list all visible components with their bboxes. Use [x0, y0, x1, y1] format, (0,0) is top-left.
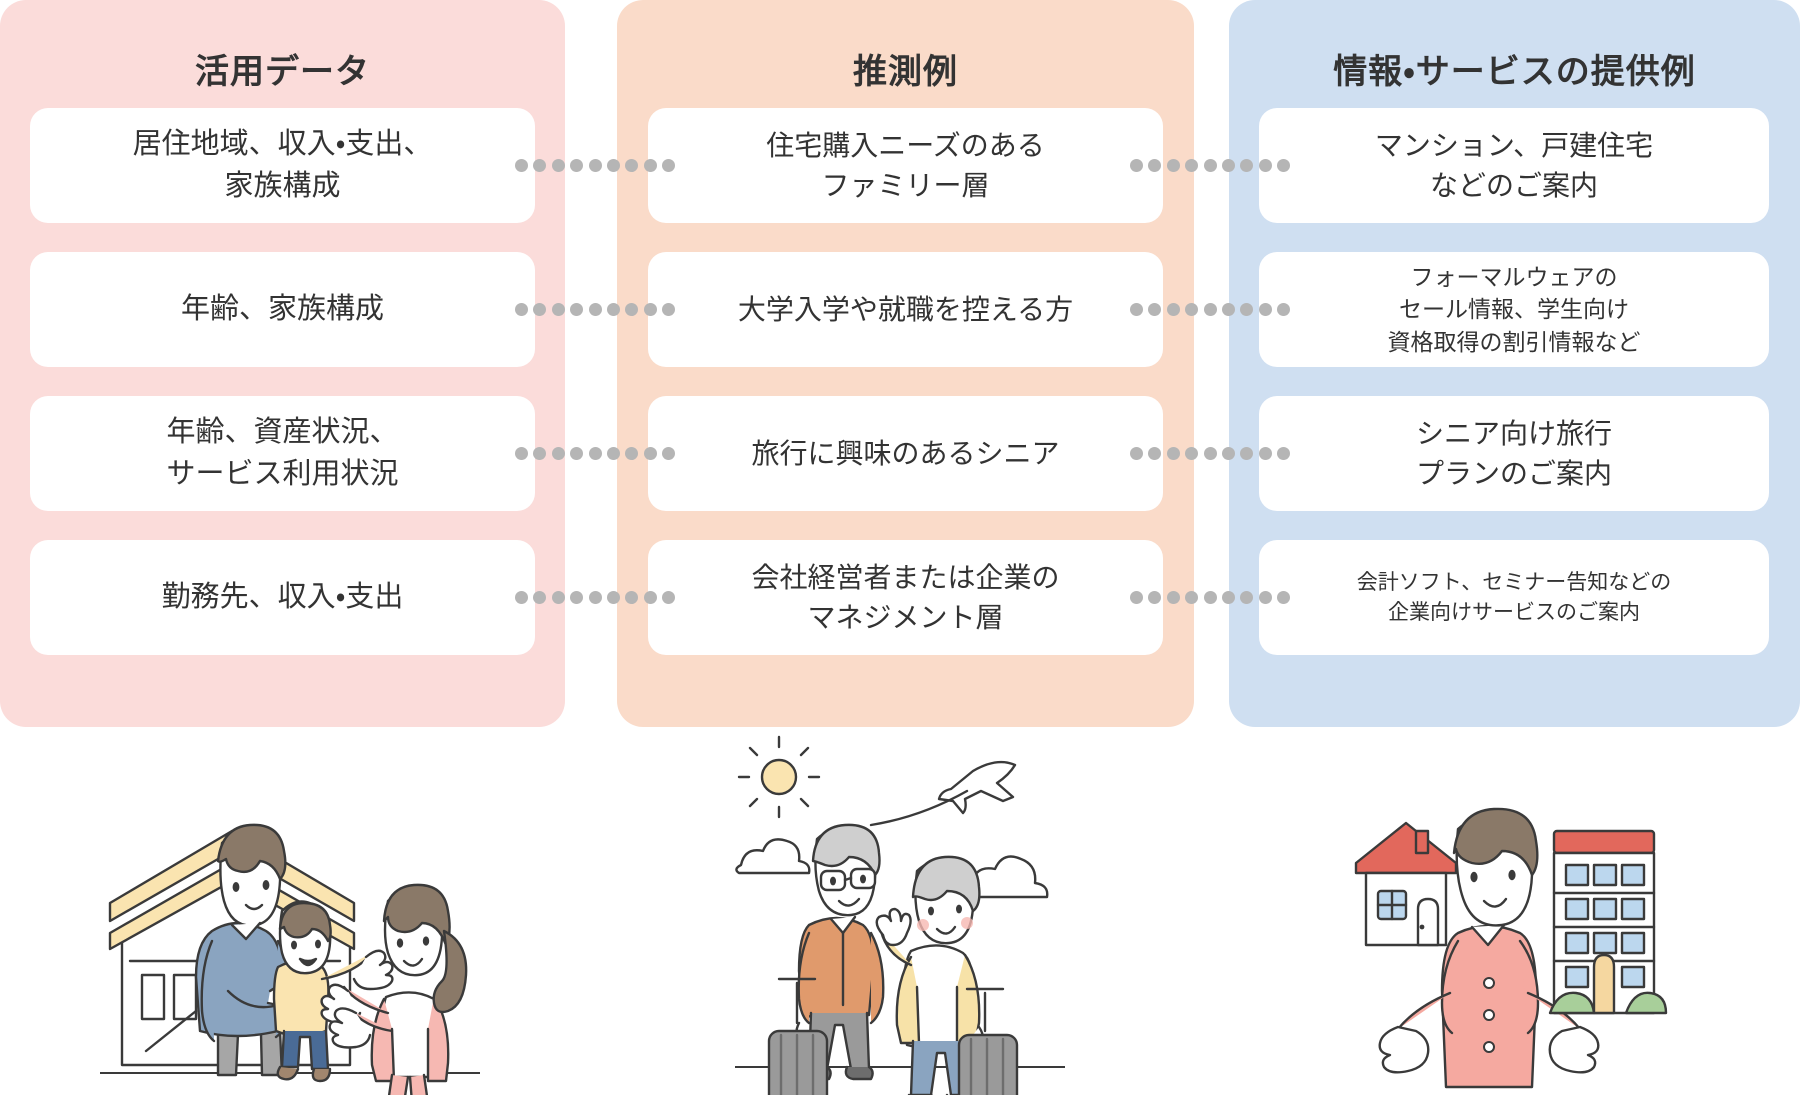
connector-dot — [1259, 159, 1272, 172]
connector-dot — [1167, 303, 1180, 316]
connector-dot — [570, 447, 583, 460]
connector-dot — [1148, 159, 1161, 172]
connector-dot — [570, 303, 583, 316]
card-infer-3-label: 旅行に興味のあるシニア — [751, 434, 1059, 474]
connector-dot — [1277, 159, 1290, 172]
connector-dot — [589, 303, 602, 316]
illustration-family-with-house — [100, 735, 480, 1095]
card-offer-4[interactable]: 会計ソフト、セミナー告知などの 企業向けサービスのご案内 — [1259, 540, 1769, 655]
card-infer-1-label: 住宅購入ニーズのある ファミリー層 — [766, 126, 1045, 206]
card-data-4[interactable]: 勤務先、収入・支出 — [30, 540, 535, 655]
card-infer-4[interactable]: 会社経営者または企業の マネジメント層 — [648, 540, 1163, 655]
connector-dot — [607, 591, 620, 604]
connector-dot — [552, 303, 565, 316]
connector-dot — [1222, 591, 1235, 604]
card-data-1[interactable]: 居住地域、収入・支出、 家族構成 — [30, 108, 535, 223]
connector-dots-infer-offer-3 — [1130, 446, 1290, 460]
connector-dot — [1240, 591, 1253, 604]
connector-dot — [589, 591, 602, 604]
column-title-infer: 推測例 — [617, 44, 1194, 93]
connector-dot — [625, 159, 638, 172]
connector-dot — [1222, 159, 1235, 172]
card-data-3[interactable]: 年齢、資産状況、 サービス利用状況 — [30, 396, 535, 511]
card-offer-4-label: 会計ソフト、セミナー告知などの 企業向けサービスのご案内 — [1357, 568, 1672, 628]
connector-dot — [1240, 447, 1253, 460]
connector-dot — [533, 159, 546, 172]
card-data-4-label: 勤務先、収入・支出 — [162, 577, 404, 618]
card-offer-1-label: マンション、戸建住宅 などのご案内 — [1375, 126, 1653, 206]
connector-dot — [533, 303, 546, 316]
connector-dot — [589, 447, 602, 460]
connector-dot — [644, 447, 657, 460]
connector-dot — [1130, 159, 1143, 172]
connector-dot — [644, 303, 657, 316]
connector-dot — [607, 303, 620, 316]
connector-dot — [1167, 447, 1180, 460]
card-offer-2-label: フォーマルウェアの セール情報、学生向け 資格取得の割引情報など — [1388, 261, 1641, 359]
connector-dot — [662, 159, 675, 172]
connector-dot — [1277, 303, 1290, 316]
connector-dot — [1204, 303, 1217, 316]
connector-dot — [1222, 303, 1235, 316]
connector-dot — [625, 447, 638, 460]
card-infer-3[interactable]: 旅行に興味のあるシニア — [648, 396, 1163, 511]
connector-dot — [1204, 591, 1217, 604]
connector-dot — [1222, 447, 1235, 460]
card-infer-4-label: 会社経営者または企業の マネジメント層 — [751, 558, 1059, 638]
connector-dots-infer-offer-4 — [1130, 590, 1290, 604]
connector-dot — [570, 591, 583, 604]
illustration-senior-couple-travel — [735, 735, 1065, 1095]
connector-dot — [1148, 447, 1161, 460]
connector-dots-infer-offer-1 — [1130, 158, 1290, 172]
connector-dot — [1130, 447, 1143, 460]
connector-dot — [1185, 303, 1198, 316]
card-offer-2[interactable]: フォーマルウェアの セール情報、学生向け 資格取得の割引情報など — [1259, 252, 1769, 367]
column-title-offer: 情報・サービスの提供例 — [1229, 44, 1800, 93]
connector-dot — [1240, 303, 1253, 316]
connector-dot — [1167, 159, 1180, 172]
connector-dot — [552, 591, 565, 604]
connector-dot — [589, 159, 602, 172]
connector-dot — [533, 447, 546, 460]
card-data-2-label: 年齢、家族構成 — [181, 289, 384, 330]
connector-dot — [662, 303, 675, 316]
connector-dot — [607, 447, 620, 460]
card-data-1-label: 居住地域、収入・支出、 家族構成 — [133, 124, 433, 206]
connector-dot — [1130, 591, 1143, 604]
card-data-3-label: 年齢、資産状況、 サービス利用状況 — [166, 412, 398, 494]
connector-dot — [1277, 591, 1290, 604]
connector-dot — [552, 447, 565, 460]
card-infer-2-label: 大学入学や就職を控える方 — [738, 290, 1073, 330]
connector-dot — [607, 159, 620, 172]
card-offer-3[interactable]: シニア向け旅行 プランのご案内 — [1259, 396, 1769, 511]
connector-dot — [644, 591, 657, 604]
connector-dot — [1259, 303, 1272, 316]
connector-dot — [1148, 303, 1161, 316]
connector-dots-data-infer-1 — [515, 158, 675, 172]
connector-dot — [1204, 159, 1217, 172]
connector-dot — [662, 447, 675, 460]
card-offer-3-label: シニア向け旅行 プランのご案内 — [1416, 414, 1612, 494]
connector-dot — [515, 303, 528, 316]
connector-dot — [515, 591, 528, 604]
connector-dot — [1185, 159, 1198, 172]
connector-dots-infer-offer-2 — [1130, 302, 1290, 316]
connector-dots-data-infer-2 — [515, 302, 675, 316]
illustration-agent-with-house-and-building — [1340, 735, 1670, 1095]
column-title-data: 活用データ — [0, 44, 565, 93]
connector-dot — [1259, 591, 1272, 604]
connector-dot — [625, 303, 638, 316]
connector-dot — [1240, 159, 1253, 172]
connector-dot — [662, 591, 675, 604]
connector-dot — [552, 159, 565, 172]
connector-dot — [570, 159, 583, 172]
card-offer-1[interactable]: マンション、戸建住宅 などのご案内 — [1259, 108, 1769, 223]
connector-dot — [533, 591, 546, 604]
connector-dot — [1185, 591, 1198, 604]
connector-dot — [1204, 447, 1217, 460]
card-infer-2[interactable]: 大学入学や就職を控える方 — [648, 252, 1163, 367]
connector-dot — [515, 447, 528, 460]
connector-dot — [1130, 303, 1143, 316]
connector-dots-data-infer-4 — [515, 590, 675, 604]
card-data-2[interactable]: 年齢、家族構成 — [30, 252, 535, 367]
connector-dot — [1185, 447, 1198, 460]
connector-dot — [1167, 591, 1180, 604]
connector-dots-data-infer-3 — [515, 446, 675, 460]
connector-dot — [1259, 447, 1272, 460]
connector-dot — [644, 159, 657, 172]
card-infer-1[interactable]: 住宅購入ニーズのある ファミリー層 — [648, 108, 1163, 223]
connector-dot — [625, 591, 638, 604]
connector-dot — [1148, 591, 1161, 604]
connector-dot — [515, 159, 528, 172]
connector-dot — [1277, 447, 1290, 460]
